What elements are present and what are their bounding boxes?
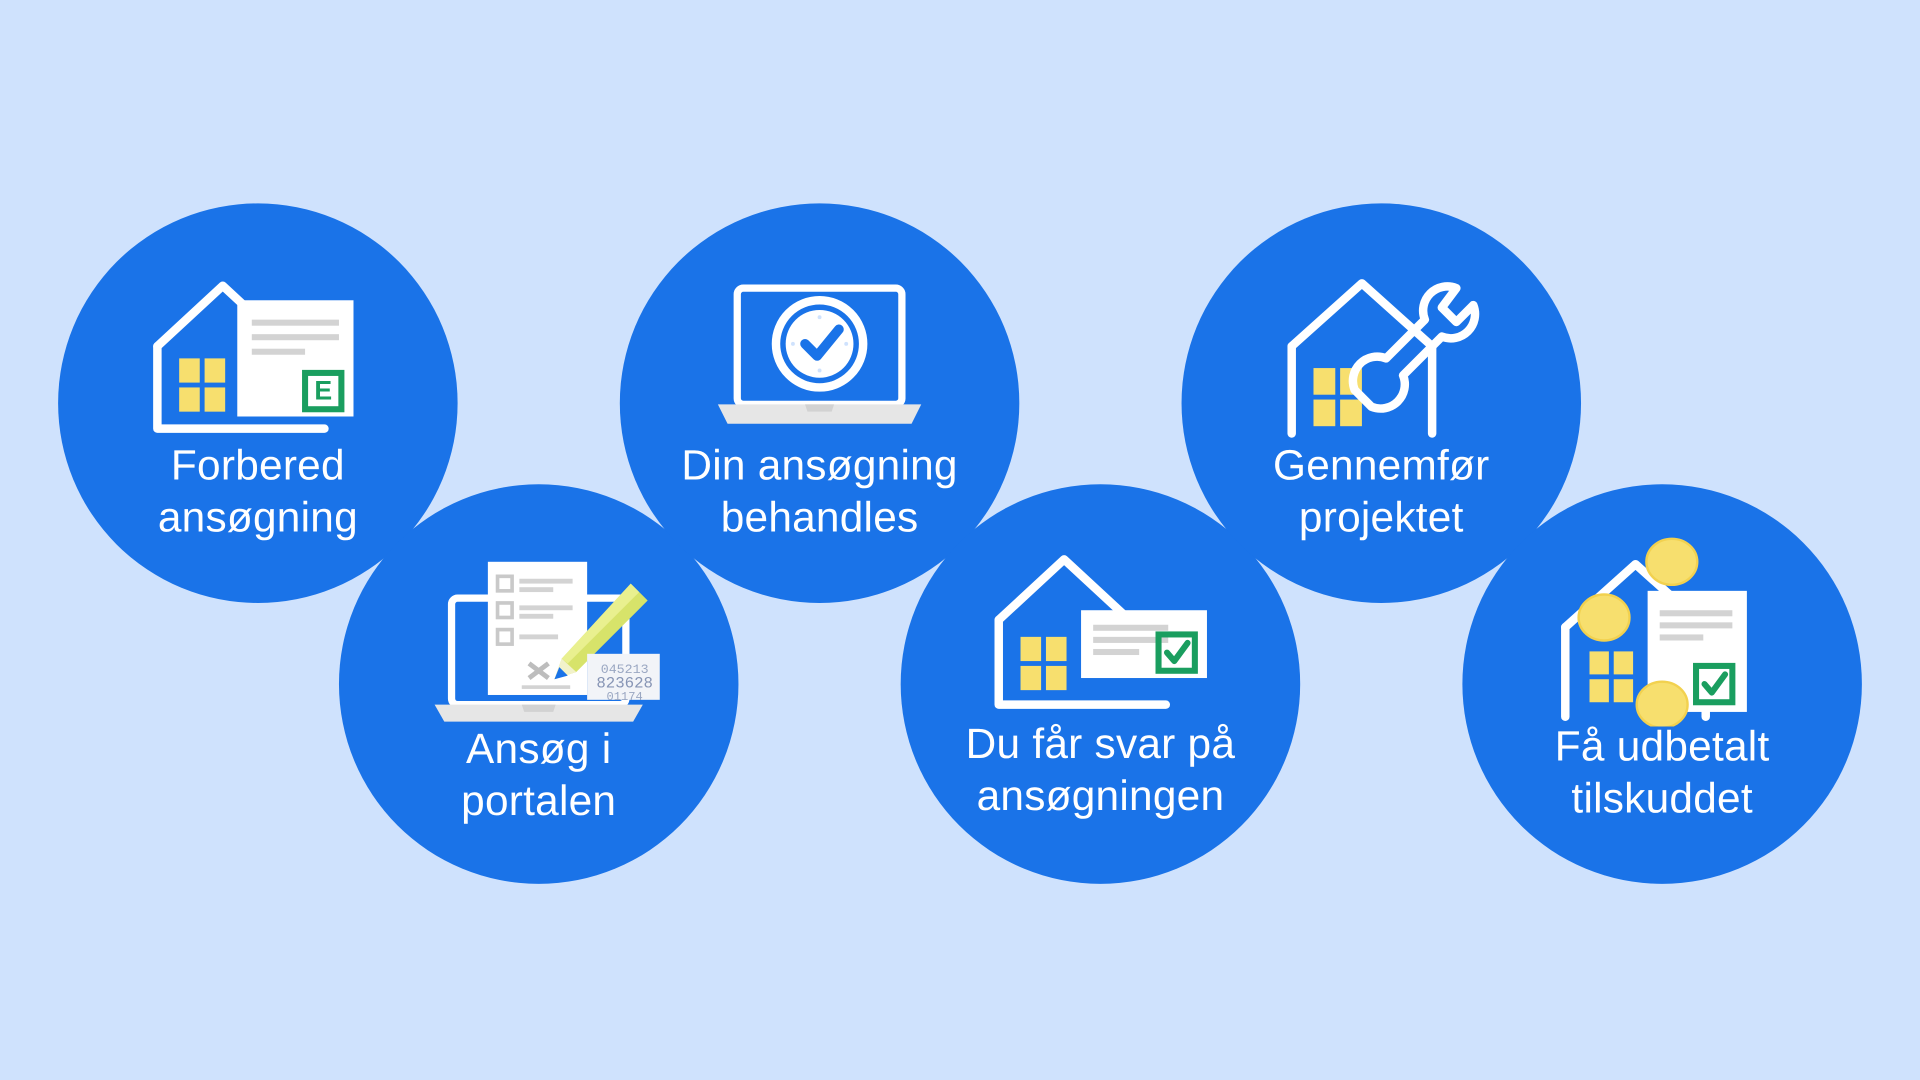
house-with-wrench-icon — [1272, 257, 1490, 447]
laptop-with-clock-check-icon — [706, 278, 934, 441]
yellow-window — [1021, 637, 1067, 690]
coin-icon-bottom — [1637, 682, 1688, 727]
step-label-1: Forbered ansøgning — [58, 441, 457, 544]
step-label-2: Ansøg i portalen — [339, 724, 738, 827]
approved-letter — [1081, 610, 1207, 678]
step-label-3: Din ansøgning behandles — [620, 441, 1019, 544]
number-card-digits-bottom: 01174 — [607, 690, 643, 704]
energy-label-letter: E — [314, 376, 332, 406]
house-with-document-and-coins-icon-host[interactable]: Få udbetalt tilskuddet — [1462, 484, 1861, 884]
yellow-window — [179, 358, 225, 411]
coin-icon-top — [1646, 539, 1697, 585]
step-label-4: Du får svar på ansøgningen — [901, 719, 1300, 822]
house-with-approved-letter-icon — [982, 535, 1219, 725]
house-with-document-and-coins-icon — [1544, 533, 1781, 733]
step-label-5: Gennemfør projektet — [1182, 441, 1581, 544]
coin-icon-left — [1579, 594, 1630, 640]
energy-document: E — [237, 300, 353, 416]
clock-face — [776, 300, 863, 387]
house-with-energy-document-icon: E — [143, 259, 373, 447]
yellow-window — [1590, 651, 1634, 702]
infographic-canvas: E Forbered ansøgning — [0, 0, 1920, 1080]
number-card: 045213 823628 01174 — [587, 654, 660, 704]
wrench-icon — [1353, 286, 1475, 408]
laptop-with-checklist-and-pencil-icon: 045213 823628 01174 — [418, 542, 660, 736]
step-label-6: Få udbetalt tilskuddet — [1462, 722, 1861, 825]
checklist-form — [488, 562, 587, 695]
